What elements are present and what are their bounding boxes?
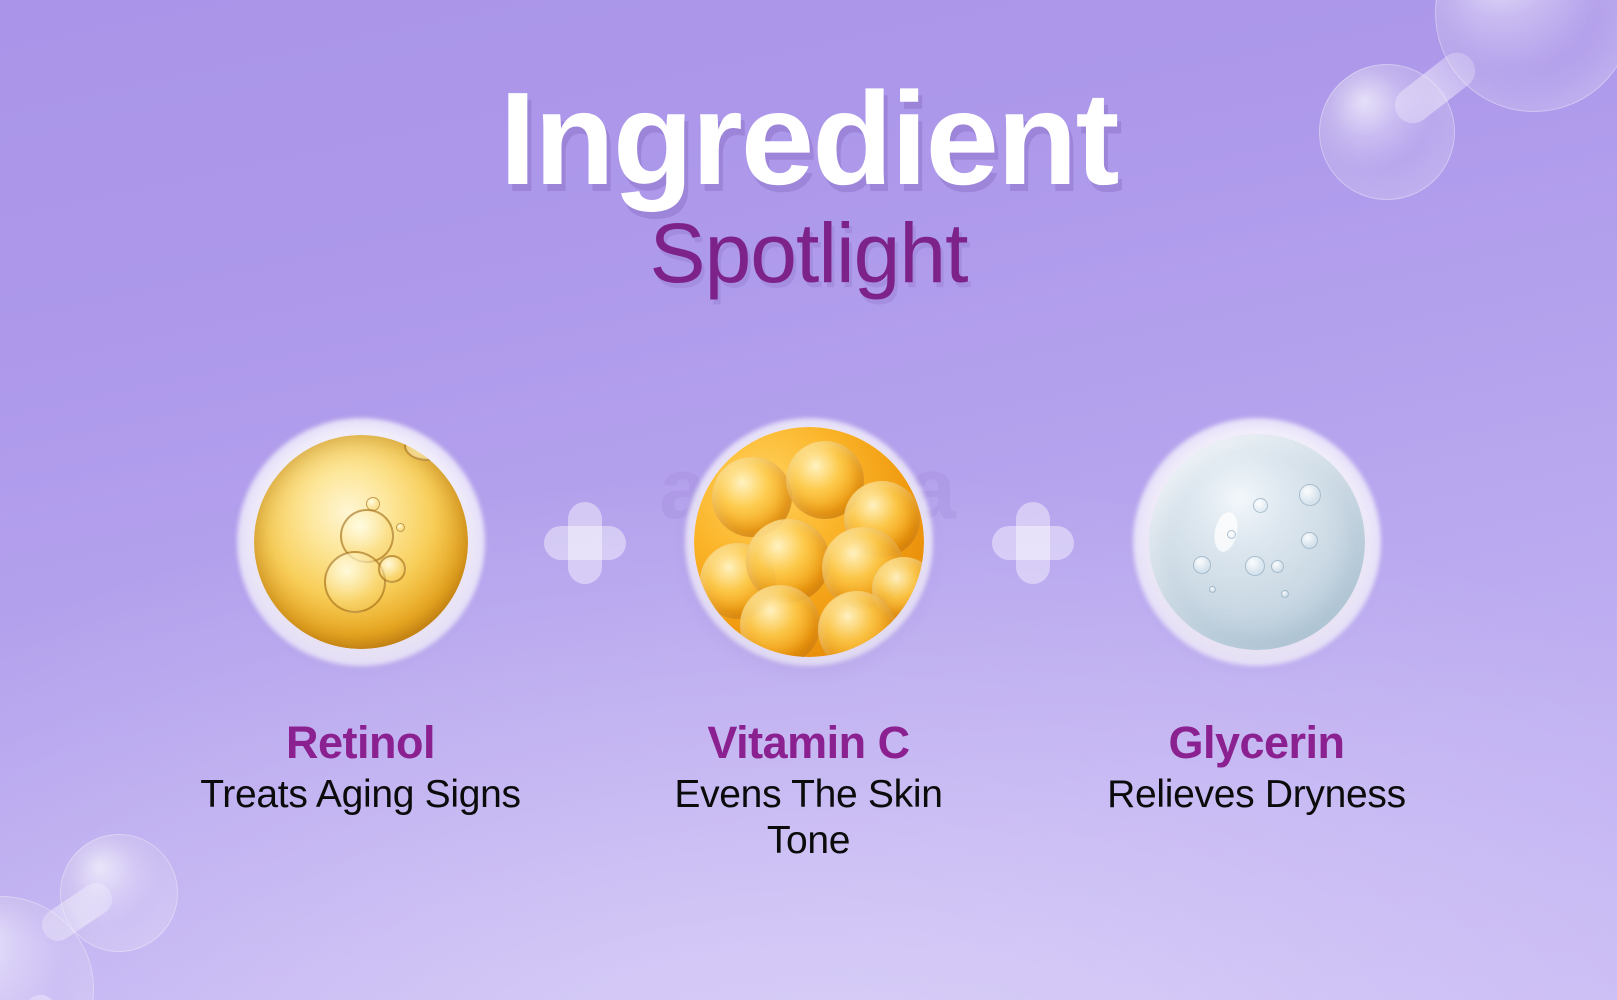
capsule-pearl	[818, 591, 896, 657]
ingredient-card-glycerin: Glycerin Relieves Dryness	[1092, 418, 1422, 818]
ingredient-swatch-retinol	[237, 418, 485, 666]
plus-icon	[992, 502, 1074, 584]
ingredient-spotlight-poster: amazia Ingredient Spotlight	[0, 0, 1617, 1000]
clear-gel-drop-icon	[1149, 434, 1365, 650]
oil-bubble	[324, 551, 386, 613]
gel-bubble	[1245, 556, 1265, 576]
page-title: Ingredient	[0, 72, 1617, 207]
plus-icon-horizontal-bar	[992, 526, 1074, 560]
ingredient-row: Retinol Treats Aging Signs	[0, 418, 1617, 864]
gel-bubble	[1301, 532, 1318, 549]
ingredient-name: Glycerin	[1092, 718, 1422, 768]
plus-icon	[544, 502, 626, 584]
ingredient-description: Relieves Dryness	[1092, 772, 1422, 818]
ingredient-card-vitamin-c: Vitamin C Evens The Skin Tone	[644, 418, 974, 864]
gel-bubble	[1209, 586, 1216, 593]
orange-capsule-pearls-icon	[694, 427, 924, 657]
gel-surface	[1149, 434, 1365, 650]
gel-bubble	[1271, 560, 1284, 573]
page-subtitle: Spotlight	[0, 209, 1617, 297]
page-heading: Ingredient Spotlight	[0, 72, 1617, 297]
gel-highlight	[1211, 510, 1241, 554]
oil-drop-surface	[254, 435, 468, 649]
capsule-pearl	[740, 585, 820, 657]
molecule-bond	[36, 877, 119, 947]
ingredient-swatch-glycerin	[1133, 418, 1381, 666]
gel-bubble	[1253, 498, 1268, 513]
separator-1	[526, 418, 644, 584]
gel-bubble	[1281, 590, 1289, 598]
ingredient-description: Evens The Skin Tone	[644, 772, 974, 864]
oil-bubble	[378, 555, 406, 583]
ingredient-caption: Glycerin Relieves Dryness	[1092, 718, 1422, 818]
gel-bubble	[1227, 530, 1236, 539]
molecule-bond	[20, 989, 95, 1000]
oil-bubble	[396, 523, 405, 532]
separator-2	[974, 418, 1092, 584]
ingredient-caption: Retinol Treats Aging Signs	[196, 718, 526, 818]
ingredient-card-retinol: Retinol Treats Aging Signs	[196, 418, 526, 818]
gel-bubble	[1193, 556, 1211, 574]
plus-icon-horizontal-bar	[544, 526, 626, 560]
ingredient-caption: Vitamin C Evens The Skin Tone	[644, 718, 974, 864]
capsule-surface	[694, 427, 924, 657]
gel-bubble	[1299, 484, 1321, 506]
ingredient-description: Treats Aging Signs	[196, 772, 526, 818]
ingredient-name: Vitamin C	[644, 718, 974, 768]
ingredient-swatch-vitamin-c	[685, 418, 933, 666]
molecule-sphere	[0, 896, 94, 1000]
ingredient-name: Retinol	[196, 718, 526, 768]
golden-oil-drop-icon	[254, 435, 468, 649]
